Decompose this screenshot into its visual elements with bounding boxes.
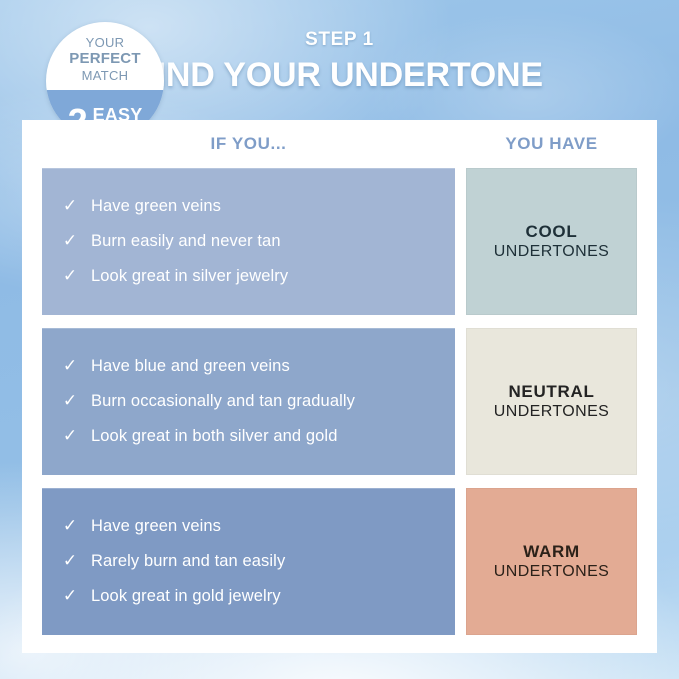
list-item: ✓ Burn easily and never tan	[62, 231, 441, 252]
criteria-text: Have blue and green veins	[91, 356, 290, 377]
undertone-sublabel: UNDERTONES	[494, 562, 609, 581]
check-icon: ✓	[62, 516, 78, 536]
list-item: ✓ Look great in silver jewelry	[62, 266, 441, 287]
undertone-swatch: WARM UNDERTONES	[466, 488, 637, 635]
column-header-row: IF YOU... YOU HAVE	[22, 134, 657, 162]
check-icon: ✓	[62, 231, 78, 251]
badge-line-perfect: PERFECT	[46, 50, 164, 68]
badge-line-match: MATCH	[46, 68, 164, 83]
criteria-text: Have green veins	[91, 516, 221, 537]
criteria-text: Burn easily and never tan	[91, 231, 281, 252]
list-item: ✓ Have green veins	[62, 516, 441, 537]
undertone-rows: ✓ Have green veins ✓ Burn easily and nev…	[22, 168, 657, 635]
check-icon: ✓	[62, 586, 78, 606]
undertone-sublabel: UNDERTONES	[494, 402, 609, 421]
criteria-text: Look great in both silver and gold	[91, 426, 337, 447]
criteria-box: ✓ Have green veins ✓ Rarely burn and tan…	[42, 488, 455, 635]
undertone-swatch: NEUTRAL UNDERTONES	[466, 328, 637, 475]
list-item: ✓ Rarely burn and tan easily	[62, 551, 441, 572]
check-icon: ✓	[62, 356, 78, 376]
column-header-if-you: IF YOU...	[42, 134, 455, 154]
badge-top-text: YOUR PERFECT MATCH	[46, 35, 164, 83]
infographic-canvas: STEP 1 FIND YOUR UNDERTONE YOUR PERFECT …	[0, 0, 679, 679]
list-item: ✓ Look great in gold jewelry	[62, 586, 441, 607]
criteria-text: Look great in gold jewelry	[91, 586, 281, 607]
criteria-text: Burn occasionally and tan gradually	[91, 391, 355, 412]
undertone-sublabel: UNDERTONES	[494, 242, 609, 261]
criteria-box: ✓ Have green veins ✓ Burn easily and nev…	[42, 168, 455, 315]
undertone-swatch: COOL UNDERTONES	[466, 168, 637, 315]
check-icon: ✓	[62, 196, 78, 216]
badge-line-your: YOUR	[46, 35, 164, 50]
list-item: ✓ Have green veins	[62, 196, 441, 217]
column-header-you-have: YOU HAVE	[466, 134, 637, 154]
table-row: ✓ Have blue and green veins ✓ Burn occas…	[22, 328, 657, 475]
undertone-name: NEUTRAL	[508, 382, 594, 402]
list-item: ✓ Have blue and green veins	[62, 356, 441, 377]
criteria-text: Look great in silver jewelry	[91, 266, 288, 287]
check-icon: ✓	[62, 266, 78, 286]
criteria-box: ✓ Have blue and green veins ✓ Burn occas…	[42, 328, 455, 475]
table-row: ✓ Have green veins ✓ Burn easily and nev…	[22, 168, 657, 315]
list-item: ✓ Burn occasionally and tan gradually	[62, 391, 441, 412]
criteria-text: Rarely burn and tan easily	[91, 551, 285, 572]
table-row: ✓ Have green veins ✓ Rarely burn and tan…	[22, 488, 657, 635]
content-panel: IF YOU... YOU HAVE ✓ Have green veins ✓ …	[22, 120, 657, 653]
undertone-name: COOL	[526, 222, 578, 242]
check-icon: ✓	[62, 426, 78, 446]
list-item: ✓ Look great in both silver and gold	[62, 426, 441, 447]
criteria-text: Have green veins	[91, 196, 221, 217]
check-icon: ✓	[62, 551, 78, 571]
check-icon: ✓	[62, 391, 78, 411]
undertone-name: WARM	[523, 542, 580, 562]
